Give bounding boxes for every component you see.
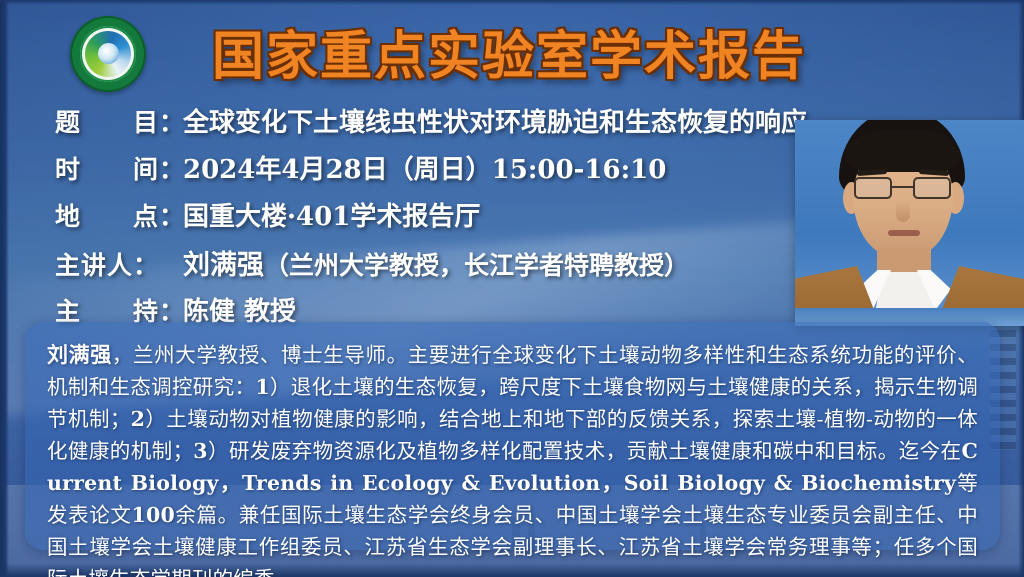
speaker-bio-text: 刘满强，兰州大学教授、博士生导师。主要进行全球变化下土壤动物多样性和生态系统功能… <box>47 339 978 577</box>
bio-segment-num: 1 <box>255 375 269 399</box>
value-speaker-name: 刘满强 <box>183 243 264 282</box>
bio-segment-num: 2 <box>131 407 145 431</box>
state-key-lab-emblem-icon <box>70 16 146 92</box>
detail-row-time: 时 间： 2024年4月28日（周日）15:00-16:10 <box>55 149 845 193</box>
portrait-glasses-icon <box>853 177 953 199</box>
value-venue: 国重大楼·401学术报告厅 <box>183 196 480 233</box>
value-time: 2024年4月28日（周日）15:00-16:10 <box>183 149 666 186</box>
emblem-inner-disc <box>80 26 136 82</box>
detail-row-venue: 地 点： 国重大楼·401学术报告厅 <box>55 196 845 240</box>
page-title: 国家重点实验室学术报告 <box>212 14 806 89</box>
bio-segment-name: 刘满强 <box>47 343 112 367</box>
bio-segment-plain: ）研发废弃物资源化及植物多样化配置技术，贡献土壤健康和碳中和目标。迄今在 <box>208 439 962 463</box>
bio-segment-num: 3 <box>193 439 207 463</box>
label-topic: 题 目： <box>55 103 183 139</box>
poster-header: 国家重点实验室学术报告 <box>0 0 1024 100</box>
speaker-portrait-photo <box>795 120 1024 326</box>
label-venue: 地 点： <box>55 197 183 233</box>
bio-segment-num: 100 <box>132 503 175 527</box>
detail-row-speaker: 主讲人： 刘满强 （兰州大学教授，长江学者特聘教授） <box>55 243 845 288</box>
event-details: 题 目： 全球变化下土壤线虫性状对环境胁迫和生态恢复的响应 时 间： 2024年… <box>55 102 845 338</box>
label-speaker: 主讲人： <box>55 246 183 282</box>
bio-segment-plain: 余篇。兼任国际土壤生态学会终身会员、中国土壤学会土壤生态专业委员会副主任、中国土… <box>47 503 978 577</box>
value-speaker-affiliation: （兰州大学教授，长江学者特聘教授） <box>264 246 689 282</box>
portrait-mouth <box>888 230 920 236</box>
portrait-nose <box>896 200 910 222</box>
portrait-fringe <box>845 130 961 172</box>
value-topic: 全球变化下土壤线虫性状对环境胁迫和生态恢复的响应 <box>183 102 807 139</box>
seminar-poster: 国家重点实验室学术报告 题 目： 全球变化下土壤线虫性状对环境胁迫和生态恢复的响… <box>0 0 1024 577</box>
label-time: 时 间： <box>55 150 183 186</box>
emblem-arc-text <box>80 26 136 82</box>
portrait-lens-left <box>854 177 892 199</box>
portrait-lens-right <box>913 177 951 199</box>
detail-row-topic: 题 目： 全球变化下土壤线虫性状对环境胁迫和生态恢复的响应 <box>55 102 845 146</box>
speaker-bio-panel: 刘满强，兰州大学教授、博士生导师。主要进行全球变化下土壤动物多样性和生态系统功能… <box>25 322 1000 550</box>
portrait-glasses-bridge <box>892 186 914 188</box>
